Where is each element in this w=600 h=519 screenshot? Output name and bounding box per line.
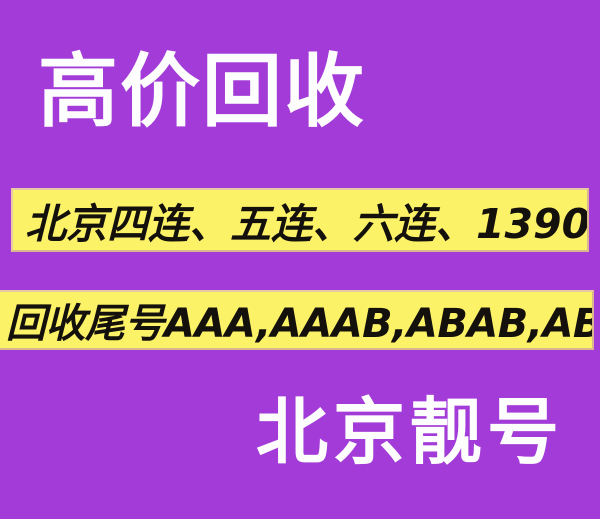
footer-tagline: 北京靓号: [256, 396, 564, 468]
banner-patterns-text: 回收尾号AAA,AAAB,ABAB,ABCD: [6, 291, 586, 349]
promo-poster: 高价回收 北京四连、五连、六连、1390 回收尾号AAA,AAAB,ABAB,A…: [0, 0, 600, 519]
banner-numbers-text: 北京四连、五连、六连、1390: [25, 190, 575, 250]
highlight-banner-patterns: 回收尾号AAA,AAAB,ABAB,ABCD: [0, 290, 594, 350]
headline-title: 高价回收: [38, 52, 366, 132]
highlight-banner-numbers: 北京四连、五连、六连、1390: [11, 188, 589, 252]
